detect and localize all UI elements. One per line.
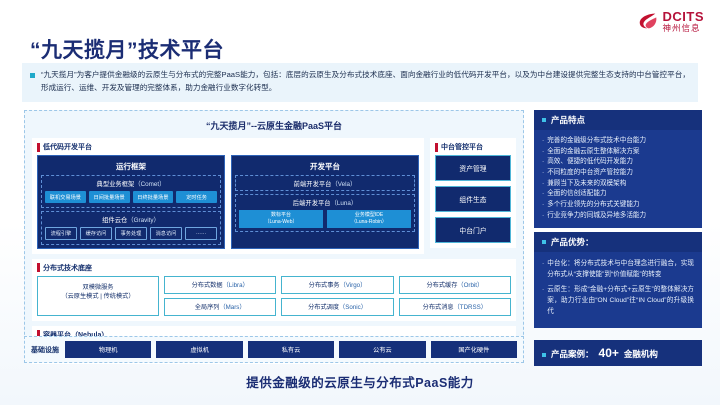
comet-chip[interactable]: 日间批量场景 xyxy=(89,191,130,203)
comet-chips: 联机交易场景 日间批量场景 日终批量场景 定时任务 xyxy=(45,191,217,203)
tech-base-cell-cn: 全局序列 xyxy=(195,304,220,311)
infrastructure-cell[interactable]: 国产化硬件 xyxy=(431,341,517,358)
luna-robin-line2: （Luna-Robin） xyxy=(327,219,411,226)
gravity-chip[interactable]: …… xyxy=(185,227,217,240)
tech-base-label-text: 分布式技术底座 xyxy=(43,263,92,273)
control-platform-label: 中台管控平台 xyxy=(435,142,511,152)
square-bullet-icon xyxy=(542,118,546,122)
dash-bullet-icon: · xyxy=(542,189,544,200)
comet-title: 典型业务框架（Comet） xyxy=(45,179,217,188)
luna-robin-chip[interactable]: 业务模型IDE （Luna-Robin） xyxy=(327,210,411,228)
tech-base-cell-en: （Orbit） xyxy=(457,282,483,289)
intro-text: “九天揽月”为客户提供金融级的云原生与分布式的完整PaaS能力，包括：底层的云原… xyxy=(41,69,690,95)
runtime-framework-title: 运行框架 xyxy=(41,159,221,175)
advantage-item-text: 云原生：形成“金融+分布式+云原生”的整体解决方案，助力行业由“ON Cloud… xyxy=(547,284,694,318)
tech-base-cell[interactable]: 分布式缓存（Orbit） xyxy=(399,276,511,294)
tech-base-columns: 分布式数据（Libra） 全局序列（Mars） 分布式事务（Virgo） 分布式… xyxy=(164,276,511,316)
product-features-title: 产品特点 xyxy=(551,114,585,126)
feature-item: ·兼顾当下及未来的双模架构 xyxy=(542,179,694,190)
lowcode-label-text: 低代码开发平台 xyxy=(43,142,92,152)
lowcode-panes: 运行框架 典型业务框架（Comet） 联机交易场景 日间批量场景 日终批量场景 … xyxy=(37,155,419,249)
feature-item-text: 全面的金融云原生整体解决方案 xyxy=(547,147,639,158)
control-item-component[interactable]: 组件生态 xyxy=(435,186,511,212)
feature-item-text: 兼顾当下及未来的双模架构 xyxy=(547,179,626,190)
product-case-label: 产品案例： xyxy=(551,348,594,360)
tech-base-cell-en: （Mars） xyxy=(219,304,245,311)
product-case-unit: 金融机构 xyxy=(624,348,658,360)
feature-item-text: 全面的信创适配能力 xyxy=(547,189,606,200)
control-platform-label-text: 中台管控平台 xyxy=(441,142,483,152)
tech-base-cell-cn: 分布式调度 xyxy=(308,304,339,311)
dash-bullet-icon: · xyxy=(542,211,544,222)
gravity-chip[interactable]: 缓存访问 xyxy=(80,227,112,240)
tech-base-cell-cn: 分布式事务 xyxy=(309,282,340,289)
luna-web-chip[interactable]: 数标平台 （Luna-Web） xyxy=(239,210,323,228)
lowcode-section: 低代码开发平台 运行框架 典型业务框架（Comet） 联机交易场景 日间批量场景… xyxy=(32,138,424,254)
infrastructure-strip: 基础设施 物理机 虚拟机 私有云 公有云 国产化硬件 xyxy=(24,336,524,363)
feature-item: ·多个行业领先的分布式关键能力 xyxy=(542,200,694,211)
tech-base-cell-cn: 分布式数据 xyxy=(192,282,223,289)
dash-bullet-icon: · xyxy=(542,147,544,158)
tech-base-grid: 双模微服务 （云原生模式 | 传统模式） 分布式数据（Libra） 全局序列（M… xyxy=(37,276,511,316)
feature-item: ·全面的金融云原生整体解决方案 xyxy=(542,147,694,158)
feature-item: ·行业竞争力的同城及异地多活能力 xyxy=(542,211,694,222)
control-item-portal[interactable]: 中台门户 xyxy=(435,217,511,243)
dev-platform-pane[interactable]: 开发平台 前端开发平台（Vela） 后端开发平台（Luna） 数标平台 （Lun… xyxy=(231,155,419,249)
red-tick-icon xyxy=(37,263,40,272)
tech-base-cell-en: （TDRSS） xyxy=(454,304,487,311)
dash-bullet-icon: · xyxy=(542,157,544,168)
dash-bullet-icon: · xyxy=(542,284,544,318)
backend-dev-chips: 数标平台 （Luna-Web） 业务模型IDE （Luna-Robin） xyxy=(239,210,411,228)
square-bullet-icon xyxy=(542,240,546,244)
feature-item-text: 完善的金融级分布式技术中台能力 xyxy=(547,136,646,147)
frontend-dev-cn: 前端开发平台 xyxy=(294,181,332,188)
tech-base-column: 分布式缓存（Orbit） 分布式消息（TDRSS） xyxy=(399,276,511,316)
intro-band: “九天揽月”为客户提供金融级的云原生与分布式的完整PaaS能力，包括：底层的云原… xyxy=(22,63,698,102)
infrastructure-cell[interactable]: 虚拟机 xyxy=(156,341,242,358)
feature-item: ·完善的金融级分布式技术中台能力 xyxy=(542,136,694,147)
tech-base-cell[interactable]: 分布式调度（Sonic） xyxy=(281,298,393,316)
feature-item-text: 多个行业领先的分布式关键能力 xyxy=(547,200,639,211)
advantage-item: ·中台化：将分布式技术与中台理念进行融合，实现分布式从“支撑使能”到“价值赋能”… xyxy=(542,258,694,281)
comet-group: 典型业务框架（Comet） 联机交易场景 日间批量场景 日终批量场景 定时任务 xyxy=(41,175,221,208)
backend-dev-cn: 后端开发平台 xyxy=(293,200,331,207)
tech-base-section: 分布式技术底座 双模微服务 （云原生模式 | 传统模式） 分布式数据（Libra… xyxy=(32,259,516,321)
gravity-title-cn: 组件云仓 xyxy=(102,217,127,224)
diagram-title: “九天揽月”--云原生金融PaaS平台 xyxy=(32,119,516,132)
luna-robin-line1: 业务模型IDE xyxy=(327,212,411,219)
dual-microservice-line1: 双模微服务 xyxy=(38,283,158,293)
infrastructure-cells: 物理机 虚拟机 私有云 公有云 国产化硬件 xyxy=(65,341,517,358)
page-title: “九天揽月”技术平台 xyxy=(30,34,224,64)
infrastructure-cell[interactable]: 私有云 xyxy=(248,341,334,358)
comet-chip[interactable]: 定时任务 xyxy=(176,191,217,203)
dual-microservice-box[interactable]: 双模微服务 （云原生模式 | 传统模式） xyxy=(37,276,159,316)
swoosh-logo-icon xyxy=(637,10,659,32)
feature-item-text: 高效、便捷的低代码开发能力 xyxy=(547,157,633,168)
feature-item: ·高效、便捷的低代码开发能力 xyxy=(542,157,694,168)
tech-base-cell[interactable]: 全局序列（Mars） xyxy=(164,298,276,316)
tech-base-cell-cn: 分布式消息 xyxy=(423,304,454,311)
footer-caption: 提供金融级的云原生与分布式PaaS能力 xyxy=(0,372,720,391)
product-advantages-title: 产品优势： xyxy=(551,236,594,248)
tech-base-cell[interactable]: 分布式数据（Libra） xyxy=(164,276,276,294)
infrastructure-cell[interactable]: 物理机 xyxy=(65,341,151,358)
luna-web-line1: 数标平台 xyxy=(239,212,323,219)
control-platform-section: 中台管控平台 资产管理 组件生态 中台门户 xyxy=(430,138,516,248)
square-bullet-icon xyxy=(542,353,546,357)
gravity-chip[interactable]: 事务处理 xyxy=(115,227,147,240)
dual-microservice-line2: （云原生模式 | 传统模式） xyxy=(38,292,158,302)
product-features-body: ·完善的金融级分布式技术中台能力 ·全面的金融云原生整体解决方案 ·高效、便捷的… xyxy=(534,130,702,228)
feature-item: ·不同粒度的中台资产管控能力 xyxy=(542,168,694,179)
feature-item: ·全面的信创适配能力 xyxy=(542,189,694,200)
gravity-chips: 流程引擎 缓存访问 事务处理 消息访问 …… xyxy=(45,227,217,240)
product-features-header: 产品特点 xyxy=(534,110,702,130)
architecture-diagram: “九天揽月”--云原生金融PaaS平台 低代码开发平台 运行框架 典型业务框架（… xyxy=(24,110,524,360)
backend-dev-box[interactable]: 后端开发平台（Luna） 数标平台 （Luna-Web） 业务模型IDE （Lu… xyxy=(235,194,415,232)
dash-bullet-icon: · xyxy=(542,168,544,179)
tech-base-cell-cn: 分布式缓存 xyxy=(426,282,457,289)
infrastructure-label: 基础设施 xyxy=(31,345,59,355)
logo-text-en: DCITS xyxy=(663,10,705,23)
tech-base-cell[interactable]: 分布式事务（Virgo） xyxy=(281,276,393,294)
red-tick-icon xyxy=(435,143,438,152)
tech-base-column: 分布式事务（Virgo） 分布式调度（Sonic） xyxy=(281,276,393,316)
comet-chip[interactable]: 日终批量场景 xyxy=(133,191,174,203)
luna-web-line2: （Luna-Web） xyxy=(239,219,323,226)
feature-item-text: 行业竞争力的同城及异地多活能力 xyxy=(547,211,646,222)
dash-bullet-icon: · xyxy=(542,200,544,211)
diagram-top-row: 低代码开发平台 运行框架 典型业务框架（Comet） 联机交易场景 日间批量场景… xyxy=(32,138,516,254)
tech-base-cell-en: （Virgo） xyxy=(340,282,367,289)
tech-base-label: 分布式技术底座 xyxy=(37,263,511,273)
frontend-dev-en: （Vela） xyxy=(331,181,356,188)
product-advantages-body: ·中台化：将分布式技术与中台理念进行融合，实现分布式从“支撑使能”到“价值赋能”… xyxy=(534,252,702,328)
dash-bullet-icon: · xyxy=(542,136,544,147)
runtime-framework-pane[interactable]: 运行框架 典型业务框架（Comet） 联机交易场景 日间批量场景 日终批量场景 … xyxy=(37,155,225,249)
advantage-item-text: 中台化：将分布式技术与中台理念进行融合，实现分布式从“支撑使能”到“价值赋能”的… xyxy=(547,258,694,281)
red-tick-icon xyxy=(37,143,40,152)
square-bullet-icon xyxy=(30,73,35,78)
brand-logo: DCITS 神州信息 xyxy=(637,10,705,33)
backend-dev-en: （Luna） xyxy=(331,200,358,207)
tech-base-cell[interactable]: 分布式消息（TDRSS） xyxy=(399,298,511,316)
comet-title-cn: 典型业务框架 xyxy=(97,181,135,188)
logo-text-cn: 神州信息 xyxy=(663,24,705,33)
gravity-chip[interactable]: 消息访问 xyxy=(150,227,182,240)
control-item-asset[interactable]: 资产管理 xyxy=(435,155,511,181)
gravity-title: 组件云仓（Gravity） xyxy=(45,215,217,224)
dash-bullet-icon: · xyxy=(542,179,544,190)
feature-item-text: 不同粒度的中台资产管控能力 xyxy=(547,168,633,179)
comet-title-en: （Comet） xyxy=(134,181,165,188)
product-case-number: 40+ xyxy=(599,346,619,360)
lowcode-section-label: 低代码开发平台 xyxy=(37,142,419,152)
infrastructure-cell[interactable]: 公有云 xyxy=(339,341,425,358)
tech-base-column: 分布式数据（Libra） 全局序列（Mars） xyxy=(164,276,276,316)
product-case-bar: 产品案例： 40+ 金融机构 xyxy=(534,340,702,366)
product-features-panel: 产品特点 ·完善的金融级分布式技术中台能力 ·全面的金融云原生整体解决方案 ·高… xyxy=(534,110,702,228)
dash-bullet-icon: · xyxy=(542,258,544,281)
gravity-chip[interactable]: 流程引擎 xyxy=(45,227,77,240)
dev-platform-title: 开发平台 xyxy=(235,159,415,175)
gravity-group: 组件云仓（Gravity） 流程引擎 缓存访问 事务处理 消息访问 …… xyxy=(41,211,221,245)
comet-chip[interactable]: 联机交易场景 xyxy=(45,191,86,203)
tech-base-cell-en: （Sonic） xyxy=(339,304,367,311)
frontend-dev-box[interactable]: 前端开发平台（Vela） xyxy=(235,175,415,191)
tech-base-cell-en: （Libra） xyxy=(223,282,249,289)
product-advantages-panel: 产品优势： ·中台化：将分布式技术与中台理念进行融合，实现分布式从“支撑使能”到… xyxy=(534,232,702,328)
product-advantages-header: 产品优势： xyxy=(534,232,702,252)
backend-dev-head: 后端开发平台（Luna） xyxy=(239,198,411,207)
advantage-item: ·云原生：形成“金融+分布式+云原生”的整体解决方案，助力行业由“ON Clou… xyxy=(542,284,694,318)
gravity-title-en: （Gravity） xyxy=(127,217,160,224)
